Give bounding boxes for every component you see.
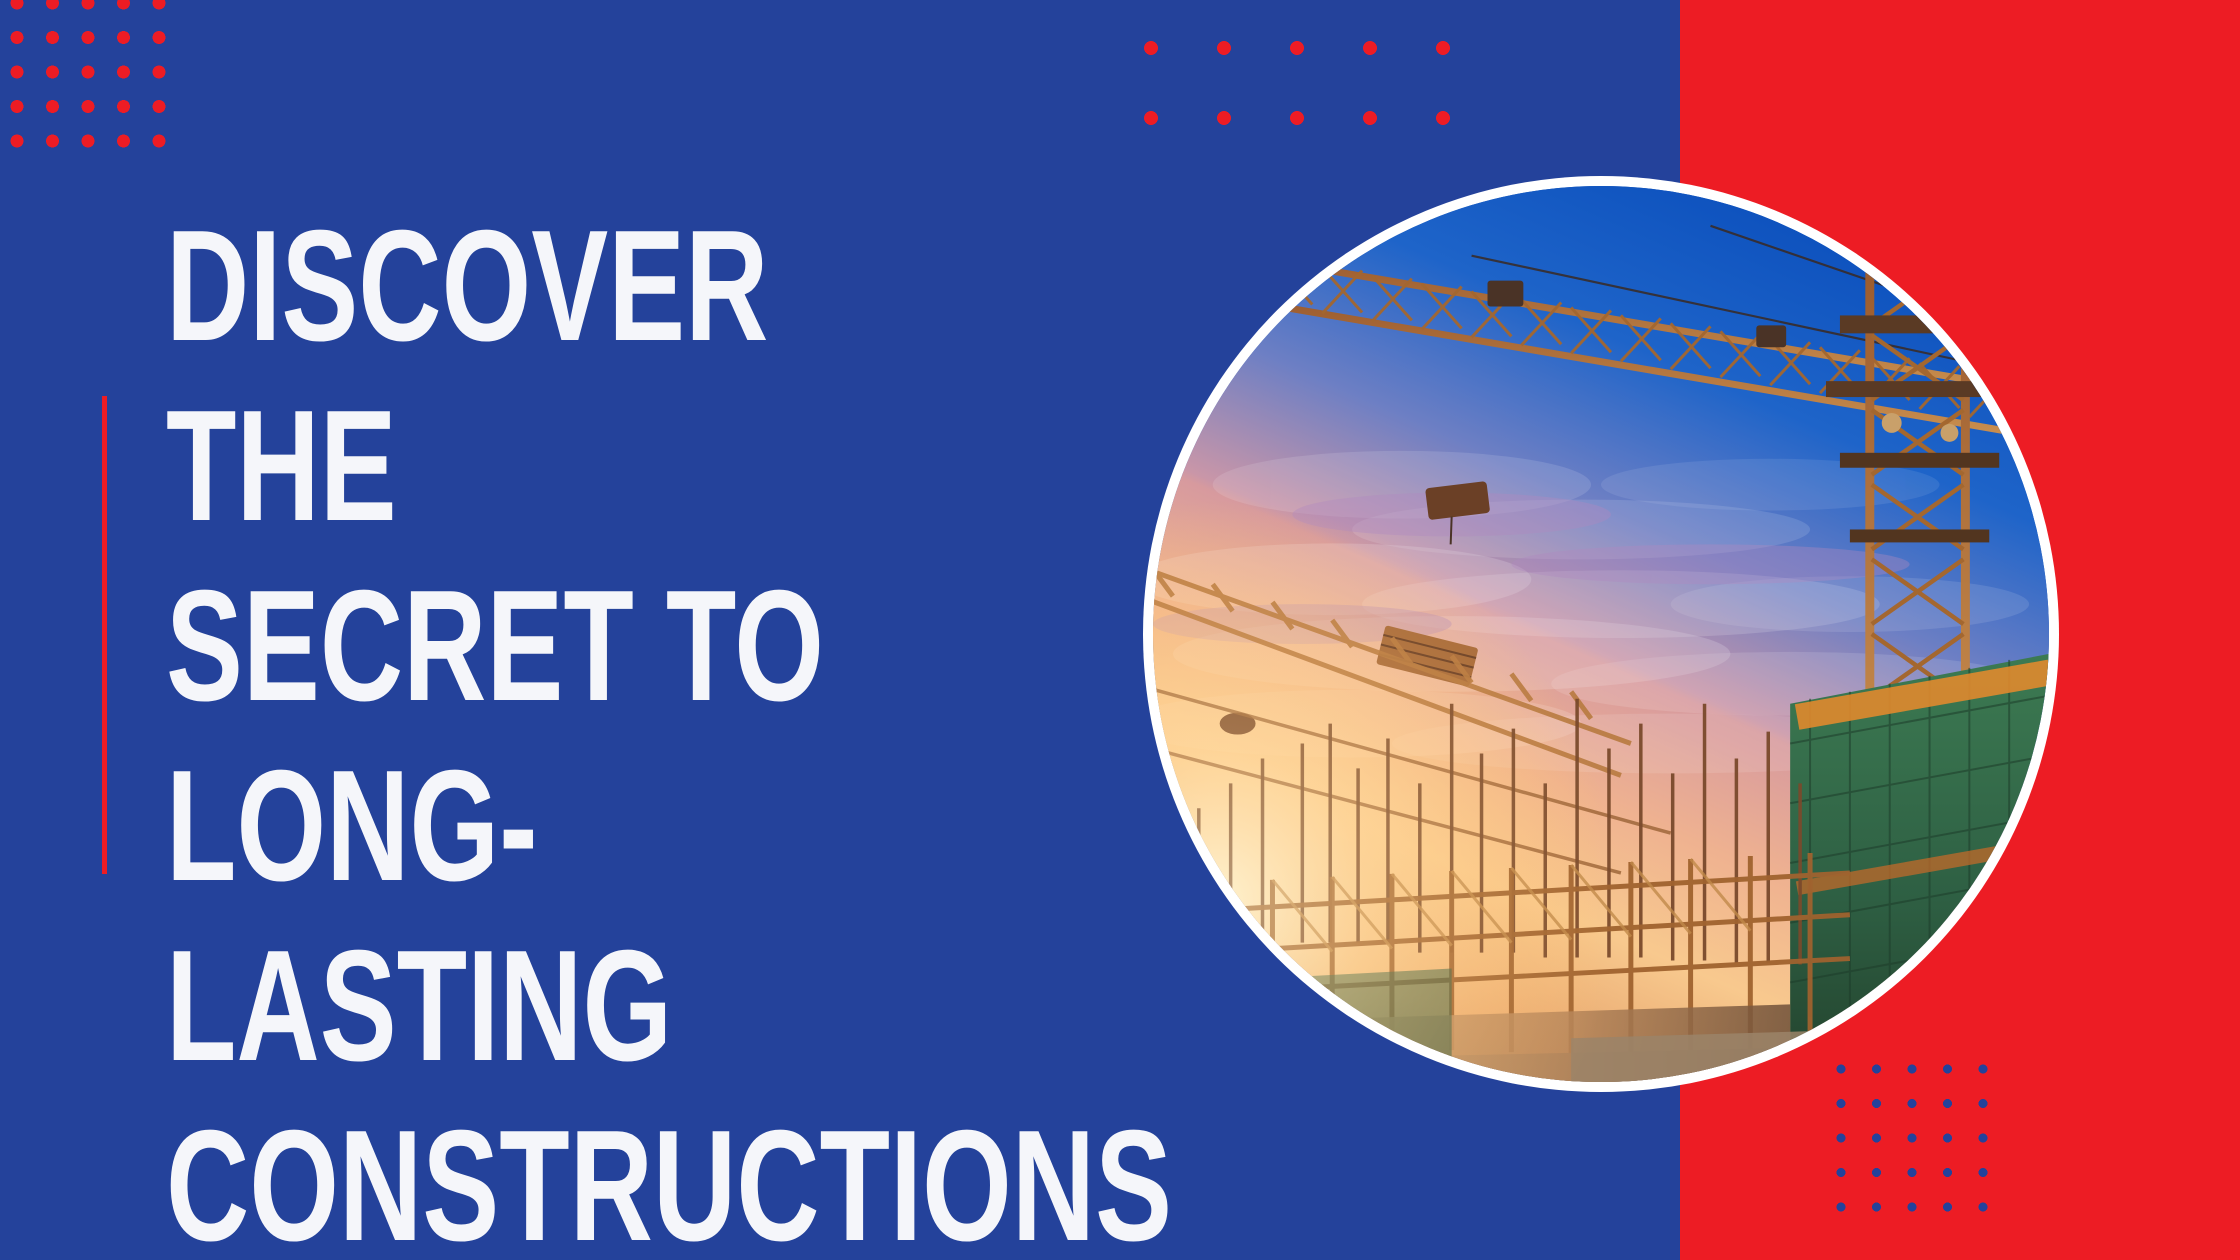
red-dot-grid-top-right-icon <box>1143 40 1459 130</box>
circular-photo-frame <box>1143 176 2059 1092</box>
promo-banner: DISCOVER THE SECRET TO LONG- LASTING CON… <box>0 0 2240 1260</box>
construction-site-photo <box>1153 186 2049 1082</box>
red-accent-rule <box>102 396 107 874</box>
red-dot-grid-top-left-icon <box>10 0 170 156</box>
blue-dot-grid-bottom-right-icon <box>1835 1063 1990 1218</box>
page-title: DISCOVER THE SECRET TO LONG- LASTING CON… <box>166 196 852 1260</box>
